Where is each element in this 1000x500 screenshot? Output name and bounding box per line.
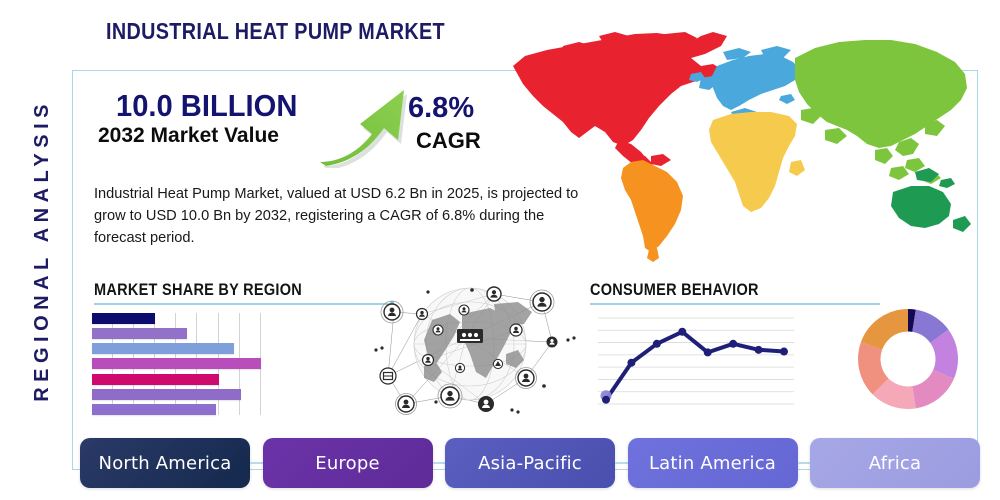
cagr-value: 6.8% [408,92,474,125]
market-value-label: 2032 Market Value [98,124,279,148]
bar-row [92,328,292,339]
bar [92,313,155,324]
region-tab-label: Asia-Pacific [478,453,582,474]
region-tab-label: North America [99,453,232,474]
region-tab-africa[interactable]: Africa [810,438,980,488]
region-tab-europe[interactable]: Europe [263,438,433,488]
region-tab-label: Latin America [649,453,776,474]
bar-row [92,358,292,369]
globe-network-icon [366,268,582,420]
side-label: REGIONAL ANALYSIS [14,0,70,500]
description-text: Industrial Heat Pump Market, valued at U… [94,183,586,250]
market-share-title: MARKET SHARE BY REGION [94,281,302,300]
market-value: 10.0 BILLION [116,88,297,124]
consumer-behavior-header: CONSUMER BEHAVIOR [590,281,880,305]
region-tab-north-america[interactable]: North America [80,438,250,488]
bar [92,404,216,415]
market-share-header: MARKET SHARE BY REGION [94,281,390,305]
bar-chart-rows [92,313,292,415]
bar [92,389,241,400]
line-marker [755,346,763,354]
bar-row [92,374,292,385]
cagr-label: CAGR [416,128,481,154]
market-share-bar-chart [92,313,292,415]
bar [92,328,187,339]
market-share-rule [94,303,390,305]
line-marker [704,348,712,356]
bar [92,343,234,354]
bar [92,358,261,369]
bar-row [92,404,292,415]
segment-donut-chart [855,306,961,412]
bar-row [92,343,292,354]
page-title: INDUSTRIAL HEAT PUMP MARKET [106,18,445,45]
region-tab-label: Europe [315,453,380,474]
region-tab-label: Africa [869,453,922,474]
bar-row [92,389,292,400]
line-marker [602,396,610,404]
donut-segment [861,309,908,350]
tab-connector [250,462,263,464]
region-tabs[interactable]: North AmericaEuropeAsia-PacificLatin Ame… [80,438,980,488]
line-marker [729,340,737,348]
consumer-behavior-line-chart [598,310,794,414]
bar-row [92,313,292,324]
tab-connector [615,462,628,464]
infographic-root: REGIONAL ANALYSIS INDUSTRIAL HEAT PUMP M… [0,0,1000,500]
region-tab-asia-pacific[interactable]: Asia-Pacific [445,438,615,488]
consumer-behavior-rule [590,303,880,305]
side-label-text: REGIONAL ANALYSIS [31,99,54,402]
region-tab-latin-america[interactable]: Latin America [628,438,798,488]
consumer-behavior-title: CONSUMER BEHAVIOR [590,281,759,300]
line-marker [678,328,686,336]
line-marker [653,340,661,348]
line-marker [627,359,635,367]
tab-connector [433,462,446,464]
kpi-row: 10.0 BILLION 2032 Market Value 6.8% CAGR [96,88,496,168]
line-marker [780,348,788,356]
tab-connector [798,462,811,464]
bar [92,374,219,385]
